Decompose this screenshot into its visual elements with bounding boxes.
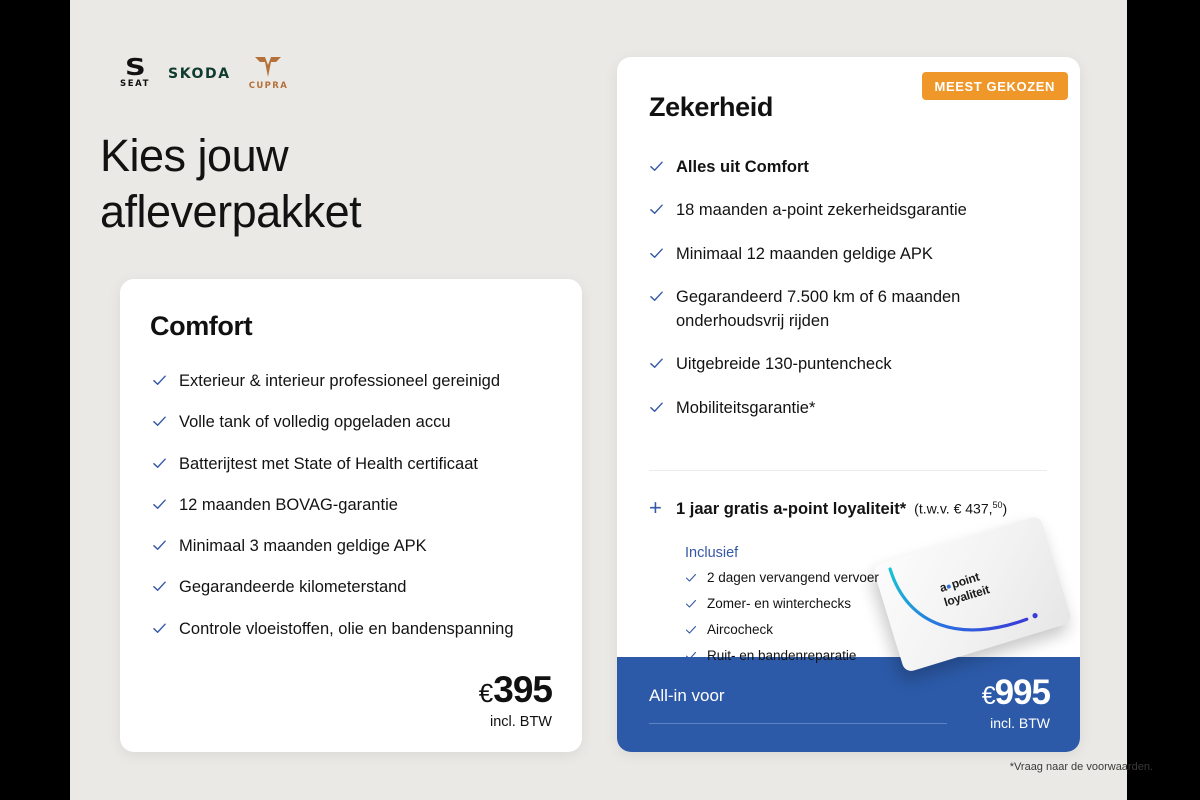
zekerheid-price-block: €995 incl. BTW xyxy=(982,675,1050,731)
list-item: 12 maanden BOVAG-garantie xyxy=(152,493,552,517)
cupra-wordmark: CUPRA xyxy=(249,81,289,91)
check-icon xyxy=(649,289,664,304)
check-icon xyxy=(649,356,664,371)
list-item: Controle vloeistoffen, olie en bandenspa… xyxy=(152,617,552,641)
comfort-feature-label: Gegarandeerde kilometerstand xyxy=(179,575,406,599)
list-item: Gegarandeerd 7.500 km of 6 maanden onder… xyxy=(649,285,1059,334)
status-badge: MEEST GEKOZEN xyxy=(922,72,1068,100)
loyalty-sub-feature-label: Zomer- en winterchecks xyxy=(707,595,851,614)
section-divider xyxy=(649,470,1047,471)
zekerheid-price-amount: €995 xyxy=(982,675,1050,710)
check-icon xyxy=(685,598,697,610)
check-icon xyxy=(152,621,167,636)
check-icon xyxy=(685,624,697,636)
check-icon xyxy=(152,414,167,429)
loyalty-sub-feature-label: 2 dagen vervangend vervoer xyxy=(707,569,879,588)
comfort-feature-label: Volle tank of volledig opgeladen accu xyxy=(179,410,451,434)
check-icon xyxy=(152,538,167,553)
zekerheid-feature-label: Alles uit Comfort xyxy=(676,155,809,179)
zekerheid-price-note: incl. BTW xyxy=(982,715,1050,731)
loyalty-headline-row: + 1 jaar gratis a-point loyaliteit* (t.w… xyxy=(649,499,1061,519)
check-icon xyxy=(649,400,664,415)
zekerheid-feature-label: 18 maanden a-point zekerheidsgarantie xyxy=(676,198,967,222)
list-item: 18 maanden a-point zekerheidsgarantie xyxy=(649,198,1059,222)
comfort-price-value: 395 xyxy=(493,669,552,710)
skoda-wordmark: SKODA xyxy=(168,66,231,82)
list-item: Minimaal 12 maanden geldige APK xyxy=(649,242,1059,266)
loyalty-value: (t.w.v. € 437,50) xyxy=(914,500,1007,517)
allin-label: All-in voor xyxy=(649,686,725,706)
comfort-feature-label: Exterieur & interieur professioneel gere… xyxy=(179,369,500,393)
check-icon xyxy=(152,456,167,471)
list-item: Alles uit Comfort xyxy=(649,155,1059,179)
brand-logo-row: S SEAT SKODA CUPRA xyxy=(120,56,288,91)
list-item: Gegarandeerde kilometerstand xyxy=(152,575,552,599)
zekerheid-card-title: Zekerheid xyxy=(649,92,773,123)
comfort-feature-label: Minimaal 3 maanden geldige APK xyxy=(179,534,427,558)
list-item: Minimaal 3 maanden geldige APK xyxy=(152,534,552,558)
inclusief-label: Inclusief xyxy=(685,545,738,561)
comfort-price-amount: €395 xyxy=(479,671,552,708)
footnote-text: *Vraag naar de voorwaarden. xyxy=(1010,761,1153,773)
check-icon xyxy=(649,159,664,174)
zekerheid-package-card[interactable]: MEEST GEKOZEN Zekerheid Alles uit Comfor… xyxy=(617,57,1080,752)
loyalty-value-cents: 50 xyxy=(993,500,1003,510)
skoda-logo: SKODA xyxy=(168,66,231,82)
comfort-price-block: €395 incl. BTW xyxy=(479,671,552,730)
comfort-feature-list: Exterieur & interieur professioneel gere… xyxy=(152,369,552,658)
comfort-feature-label: Batterijtest met State of Health certifi… xyxy=(179,452,478,476)
loyalty-value-prefix: (t.w.v. € 437, xyxy=(914,501,992,517)
check-icon xyxy=(685,572,697,584)
list-item: Ruit- en bandenreparatie xyxy=(685,647,975,666)
list-item: Exterieur & interieur professioneel gere… xyxy=(152,369,552,393)
loyalty-sub-feature-list: 2 dagen vervangend vervoerZomer- en wint… xyxy=(685,569,975,673)
cupra-trident-icon xyxy=(253,56,283,78)
screenshot-stage: S SEAT SKODA CUPRA Kies jouw afleverpakk… xyxy=(0,0,1200,800)
seat-mark-icon: S xyxy=(125,59,144,78)
check-icon xyxy=(649,246,664,261)
plus-icon: + xyxy=(649,500,664,516)
comfort-feature-label: Controle vloeistoffen, olie en bandenspa… xyxy=(179,617,514,641)
list-item: 2 dagen vervangend vervoer xyxy=(685,569,975,588)
page-title: Kies jouw afleverpakket xyxy=(100,128,520,241)
loyalty-title: 1 jaar gratis a-point loyaliteit* xyxy=(676,500,906,519)
zekerheid-feature-label: Gegarandeerd 7.500 km of 6 maanden onder… xyxy=(676,285,1059,334)
zekerheid-price-value: 995 xyxy=(995,673,1050,712)
loyalty-sub-feature-label: Aircocheck xyxy=(707,621,773,640)
check-icon xyxy=(152,373,167,388)
check-icon xyxy=(152,497,167,512)
list-item: Batterijtest met State of Health certifi… xyxy=(152,452,552,476)
zekerheid-feature-label: Uitgebreide 130-puntencheck xyxy=(676,352,892,376)
list-item: Uitgebreide 130-puntencheck xyxy=(649,352,1059,376)
zekerheid-feature-list: Alles uit Comfort18 maanden a-point zeke… xyxy=(649,155,1059,439)
comfort-card-title: Comfort xyxy=(150,311,252,342)
comfort-price-note: incl. BTW xyxy=(479,714,552,730)
zekerheid-feature-label: Mobiliteitsgarantie* xyxy=(676,396,815,420)
footer-rule xyxy=(649,723,947,724)
list-item: Volle tank of volledig opgeladen accu xyxy=(152,410,552,434)
check-icon xyxy=(649,202,664,217)
loyalty-sub-feature-label: Ruit- en bandenreparatie xyxy=(707,647,856,666)
comfort-package-card[interactable]: Comfort Exterieur & interieur profession… xyxy=(120,279,582,752)
comfort-feature-label: 12 maanden BOVAG-garantie xyxy=(179,493,398,517)
seat-logo: S SEAT xyxy=(120,59,150,89)
zekerheid-feature-label: Minimaal 12 maanden geldige APK xyxy=(676,242,933,266)
loyalty-value-suffix: ) xyxy=(1003,501,1008,517)
comfort-currency-symbol: € xyxy=(479,678,492,708)
cupra-logo: CUPRA xyxy=(249,56,289,91)
list-item: Aircocheck xyxy=(685,621,975,640)
check-icon xyxy=(685,650,697,662)
zekerheid-currency-symbol: € xyxy=(982,682,995,710)
list-item: Zomer- en winterchecks xyxy=(685,595,975,614)
check-icon xyxy=(152,579,167,594)
list-item: Mobiliteitsgarantie* xyxy=(649,396,1059,420)
